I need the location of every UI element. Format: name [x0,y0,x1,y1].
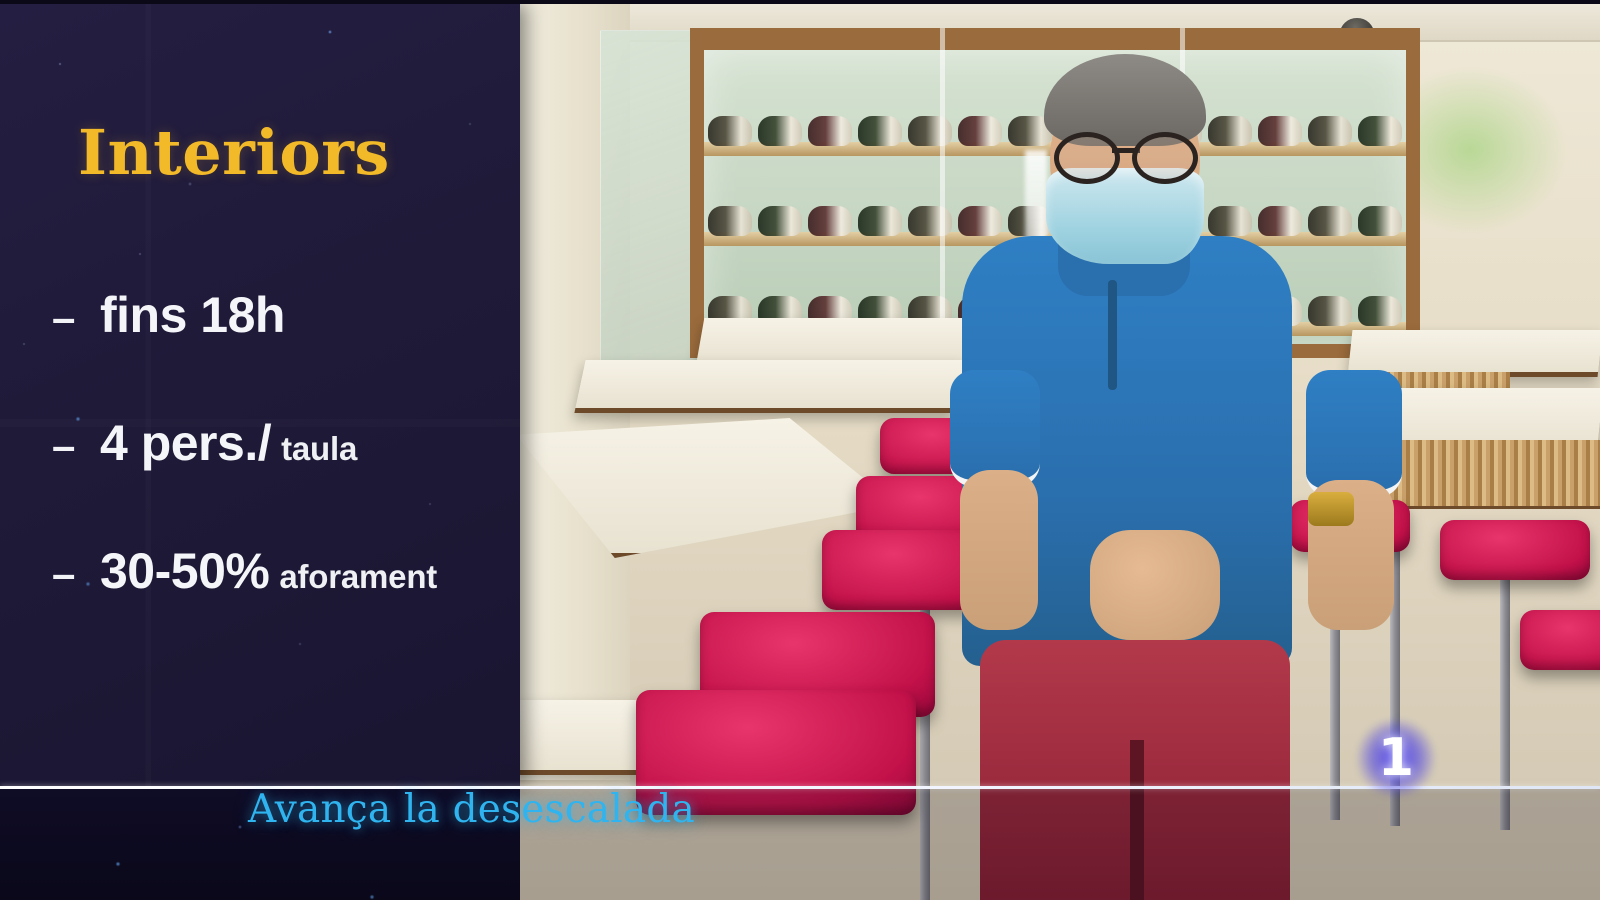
presenter [940,40,1410,900]
bullet-dash-icon: – [52,553,100,595]
bullet-dash-icon: – [52,425,100,467]
left-glass-cabinet [600,30,702,412]
channel-number: 1 [1378,732,1414,784]
lower-third-caption: Avança la desescalada [248,787,695,832]
red-cushion [1520,610,1600,670]
polo-sleeve-right [1306,370,1402,497]
bullet-list: – fins 18h – 4 pers./ taula – 30-50% afo… [52,290,522,674]
polo-placket [1108,280,1117,390]
dining-table [574,360,965,413]
list-item: – fins 18h [52,290,522,340]
panel-title: Interiors [78,116,390,189]
bullet-main-text: 30-50% [100,546,269,596]
info-graphic-panel: Interiors – fins 18h – 4 pers./ taula – … [0,4,520,787]
bullet-main-text: fins 18h [100,290,285,340]
list-item: – 4 pers./ taula [52,418,522,468]
broadcast-screen: Interiors – fins 18h – 4 pers./ taula – … [0,0,1600,900]
bullet-dash-icon: – [52,297,100,339]
surgical-mask [1046,168,1204,264]
channel-logo: 1 [1356,718,1436,798]
bullet-sub-text: aforament [279,558,437,596]
dining-table [516,700,636,775]
top-edge-strip [0,0,1600,4]
clasped-hands [1090,530,1220,640]
bullet-sub-text: taula [281,430,357,468]
red-cushion [1440,520,1590,580]
list-item: – 30-50% aforament [52,546,522,596]
eyeglasses-icon [1052,132,1200,174]
forearm-left [960,470,1038,630]
bullet-main-text: 4 pers./ [100,418,271,468]
table-apron [1390,440,1600,509]
wristwatch [1308,492,1354,526]
